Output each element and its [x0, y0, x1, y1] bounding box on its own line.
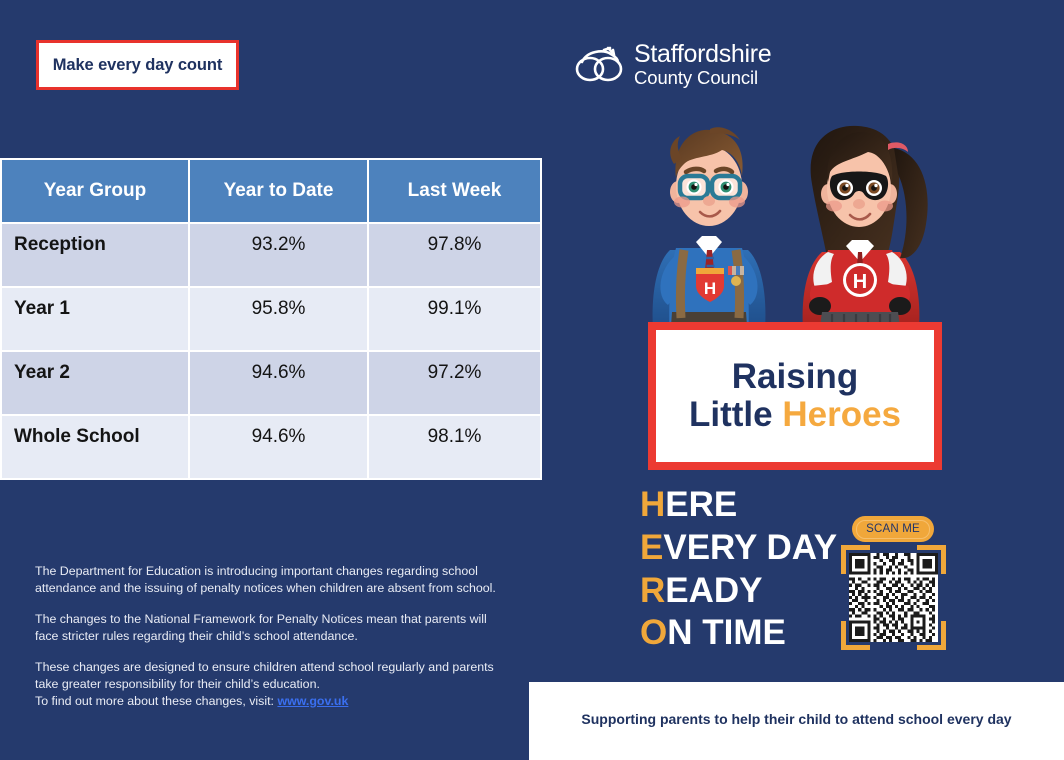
visit-prefix-text: To find out more about these changes, vi… [35, 694, 277, 708]
cell-year-group: Year 2 [1, 351, 189, 415]
council-wordmark: Staffordshire County Council [634, 42, 771, 88]
boy-hero-character: H [653, 127, 766, 340]
cell-year-to-date: 95.8% [189, 287, 368, 351]
hero-initial-o: O [640, 613, 667, 652]
girl-hero-character: H [803, 126, 928, 340]
footer-strip: Supporting parents to help their child t… [529, 682, 1064, 760]
paragraph-purpose-text: These changes are designed to ensure chi… [35, 660, 494, 691]
paragraph-penalty-notices: The changes to the National Framework fo… [35, 611, 505, 645]
cell-last-week: 98.1% [368, 415, 541, 479]
qr-code-block[interactable]: SCAN ME [836, 516, 952, 651]
hero-rest-on-time: N TIME [667, 613, 786, 652]
cell-year-group: Year 1 [1, 287, 189, 351]
tagline-text: Make every day count [53, 56, 223, 75]
banner-line-raising: Raising [732, 358, 858, 396]
cell-last-week: 97.2% [368, 351, 541, 415]
paragraph-dfe-changes: The Department for Education is introduc… [35, 563, 505, 597]
cell-year-group: Reception [1, 223, 189, 287]
cell-year-to-date: 94.6% [189, 415, 368, 479]
footer-text: Supporting parents to help their child t… [581, 711, 1011, 727]
hero-rest-every-day: VERY DAY [663, 528, 837, 567]
attendance-table: Year Group Year to Date Last Week Recept… [0, 158, 542, 480]
cell-last-week: 97.8% [368, 223, 541, 287]
hero-rest-here: ERE [665, 485, 737, 524]
qr-code-frame [841, 545, 946, 650]
staffordshire-knot-icon [573, 45, 625, 85]
scan-me-label: SCAN ME [866, 523, 920, 535]
svg-text:H: H [704, 279, 716, 298]
scan-me-badge: SCAN ME [852, 516, 934, 542]
hero-initial-r: R [640, 571, 665, 610]
table-row: Year 2 94.6% 97.2% [1, 351, 541, 415]
table-row: Year 1 95.8% 99.1% [1, 287, 541, 351]
banner-word-little: Little [689, 395, 782, 434]
qr-code-icon [849, 553, 938, 642]
table-row: Whole School 94.6% 98.1% [1, 415, 541, 479]
tagline-box: Make every day count [36, 40, 239, 90]
superhero-children-illustration: H [636, 100, 958, 340]
hero-line-here: HERE [640, 487, 837, 524]
attendance-poster: Make every day count Staffordshire Count… [0, 0, 1064, 760]
hero-line-on-time: ON TIME [640, 615, 837, 652]
hero-initial-e: E [640, 528, 663, 567]
column-header-year-group: Year Group [1, 159, 189, 223]
hero-initial-h: H [640, 485, 665, 524]
gov-uk-link[interactable]: www.gov.uk [277, 694, 348, 708]
body-copy: The Department for Education is introduc… [35, 563, 505, 710]
cell-year-group: Whole School [1, 415, 189, 479]
hero-rest-ready: EADY [665, 571, 762, 610]
table-header-row: Year Group Year to Date Last Week [1, 159, 541, 223]
paragraph-find-out-more: These changes are designed to ensure chi… [35, 659, 505, 710]
svg-text:H: H [853, 271, 867, 293]
hero-line-ready: READY [640, 573, 837, 610]
raising-little-heroes-banner: Raising Little Heroes [648, 322, 942, 470]
banner-line-little-heroes: Little Heroes [689, 396, 901, 434]
cell-last-week: 99.1% [368, 287, 541, 351]
banner-word-heroes: Heroes [782, 395, 901, 434]
column-header-last-week: Last Week [368, 159, 541, 223]
council-name-line2: County Council [634, 69, 771, 88]
hero-line-every-day: EVERY DAY [640, 530, 837, 567]
column-header-year-to-date: Year to Date [189, 159, 368, 223]
council-logo: Staffordshire County Council [573, 42, 771, 88]
table-row: Reception 93.2% 97.8% [1, 223, 541, 287]
cell-year-to-date: 94.6% [189, 351, 368, 415]
hero-acronym: HERE EVERY DAY READY ON TIME [640, 487, 837, 652]
scan-me-inner-outline: SCAN ME [856, 520, 930, 539]
council-name-line1: Staffordshire [634, 42, 771, 67]
cell-year-to-date: 93.2% [189, 223, 368, 287]
